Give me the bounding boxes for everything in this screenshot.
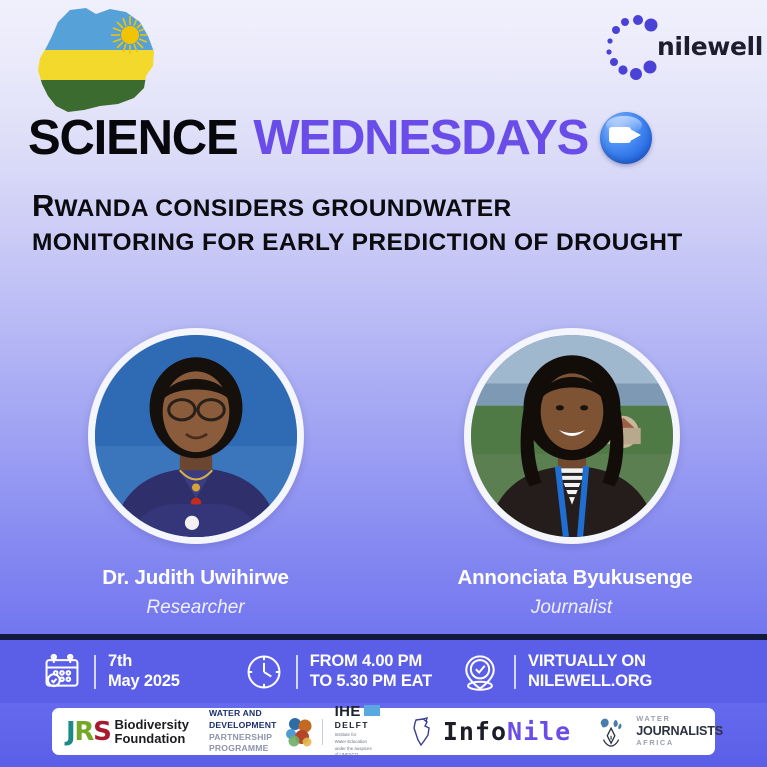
nilewell-wordmark: nilewell xyxy=(657,32,763,61)
event-time-line1: FROM 4.00 PM xyxy=(310,652,422,670)
page-title: SCIENCE WEDNESDAYS xyxy=(28,112,652,164)
clock-icon xyxy=(244,652,284,692)
divider-line xyxy=(296,655,298,689)
event-location-line1: VIRTUALLY ON xyxy=(528,652,646,670)
speaker-name: Dr. Judith Uwihirwe xyxy=(82,566,310,590)
event-date-line2: May 2025 xyxy=(108,672,180,692)
title-science: SCIENCE xyxy=(28,114,237,163)
ihe-block: IHE DELFT Institute for Water Education … xyxy=(335,704,380,758)
ihe-square-mark xyxy=(364,705,380,716)
event-location-text: VIRTUALLY ON NILEWELL.ORG xyxy=(528,652,652,692)
calendar-icon xyxy=(42,652,82,692)
speaker-card: Annonciata Byukusenge Journalist xyxy=(458,328,686,619)
water-journalists-africa-logo: WATER JOURNALISTS AFRICA xyxy=(595,715,723,749)
subtitle-line-1-rest: WANDA CONSIDERS GROUNDWATER xyxy=(54,195,511,222)
divider-line xyxy=(514,655,516,689)
wdpp-wordmark: WATER AND DEVELOPMENT PARTNERSHIP PROGRA… xyxy=(209,708,277,754)
gloss-highlight xyxy=(606,116,642,134)
event-date-line1: 7th xyxy=(108,652,132,670)
infonile-wordmark: InfoNile xyxy=(443,717,571,746)
subtitle-dropcap: R xyxy=(32,188,54,223)
event-poster: nilewell SCIENCE WEDNESDAYS RWANDA CONSI… xyxy=(0,0,767,767)
infonile-logo: InfoNile xyxy=(410,717,571,747)
title-wednesdays: WEDNESDAYS xyxy=(253,114,588,163)
speaker-card: Dr. Judith Uwihirwe Researcher xyxy=(82,328,310,619)
ihe-city: DELFT xyxy=(335,720,380,730)
jrs-monogram: JRS xyxy=(66,717,111,747)
speaker-role: Journalist xyxy=(458,597,686,619)
nilewell-logo: nilewell xyxy=(605,14,745,80)
water-and-development-partnership-programme-logo: WATER AND DEVELOPMENT PARTNERSHIP PROGRA… xyxy=(209,708,314,754)
ihe-wordmark: IHE xyxy=(335,704,361,719)
logo-divider xyxy=(322,719,323,745)
speaker-name: Annonciata Byukusenge xyxy=(458,566,686,590)
wja-wordmark: WATER JOURNALISTS AFRICA xyxy=(636,715,723,747)
avatar xyxy=(88,328,304,544)
event-date-item: 7th May 2025 xyxy=(42,652,180,692)
rwanda-flag-map-icon xyxy=(26,6,174,116)
nilewell-dots-icon xyxy=(605,14,661,80)
event-location-item: VIRTUALLY ON NILEWELL.ORG xyxy=(458,650,652,694)
wja-pen-leaf-icon xyxy=(595,715,629,749)
speakers-section: Dr. Judith Uwihirwe Researcher xyxy=(0,328,767,619)
event-details-bar: 7th May 2025 FROM 4.00 PM TO 5.30 P xyxy=(0,640,767,703)
event-time-line2: TO 5.30 PM EAT xyxy=(310,672,432,692)
event-subtitle: RWANDA CONSIDERS GROUNDWATER MONITORING … xyxy=(32,186,752,259)
divider-line xyxy=(94,655,96,689)
event-location-line2: NILEWELL.ORG xyxy=(528,672,652,692)
jrs-wordmark: Biodiversity Foundation xyxy=(115,718,189,745)
subtitle-line-2: MONITORING FOR EARLY PREDICTION OF DROUG… xyxy=(32,227,752,259)
location-pin-check-icon xyxy=(458,650,502,694)
wdpp-bubbles-icon xyxy=(282,717,314,747)
partner-logos-bar: JRS Biodiversity Foundation WATER AND DE… xyxy=(52,708,715,755)
event-date-text: 7th May 2025 xyxy=(108,652,180,692)
jrs-biodiversity-foundation-logo: JRS Biodiversity Foundation xyxy=(66,717,189,747)
event-time-item: FROM 4.00 PM TO 5.30 PM EAT xyxy=(244,652,432,692)
speaker-role: Researcher xyxy=(82,597,310,619)
avatar xyxy=(464,328,680,544)
ihe-delft-logo: IHE DELFT Institute for Water Education … xyxy=(335,704,380,758)
africa-outline-icon xyxy=(410,717,436,747)
ihe-tagline: Institute for Water Education under the … xyxy=(335,732,380,758)
event-time-text: FROM 4.00 PM TO 5.30 PM EAT xyxy=(310,652,432,692)
video-camera-icon xyxy=(600,112,652,164)
subtitle-line-1: RWANDA CONSIDERS GROUNDWATER xyxy=(32,186,752,227)
